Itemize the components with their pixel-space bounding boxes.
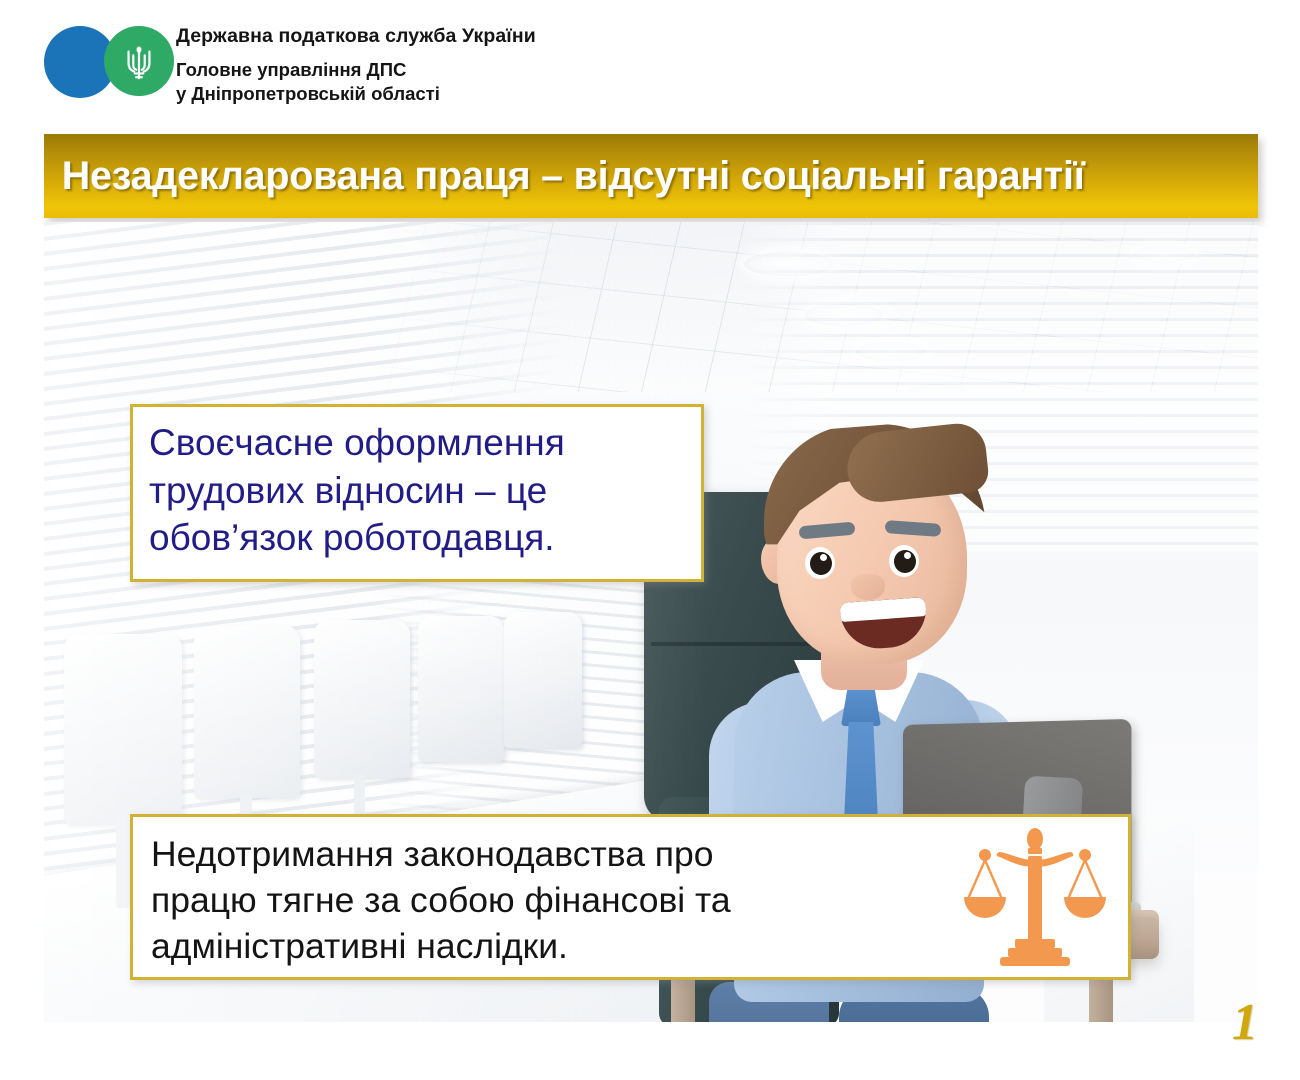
chair-leg [116, 818, 130, 908]
person-eye-left [805, 547, 835, 579]
office-chair-seam [651, 642, 827, 646]
title-banner: Незадекларована праця – відсутні соціаль… [44, 134, 1258, 218]
agency-name-primary: Державна податкова служба України [176, 25, 536, 48]
conference-chair [418, 616, 504, 762]
callout-bottom-line2: працю тягне за собою фінансові та [151, 877, 960, 923]
callout-bottom-line1: Недотримання законодавства про [151, 831, 960, 877]
agency-name-department: Головне управління ДПС [176, 58, 536, 82]
agency-name-block: Державна податкова служба України Головн… [176, 22, 536, 105]
conference-chair [504, 612, 582, 748]
justice-scales-icon [960, 827, 1110, 967]
callout-box-top: Своєчасне оформлення трудових відносин –… [130, 404, 704, 582]
page-number: 1 [1232, 993, 1258, 1052]
callout-top-line3: обов’язок роботодавця. [149, 514, 687, 562]
ukraine-trident-icon [122, 44, 156, 82]
callout-top-line1: Своєчасне оформлення [149, 419, 687, 467]
person-eye-right [889, 545, 919, 577]
slide-root: Державна податкова служба України Головн… [0, 0, 1300, 1080]
agency-logo [44, 22, 172, 104]
callout-bottom-line3: адміністративні наслідки. [151, 923, 960, 969]
callout-box-bottom: Недотримання законодавства про працю тяг… [130, 814, 1131, 980]
callout-top-text: Своєчасне оформлення трудових відносин –… [133, 407, 701, 562]
agency-name-region: у Дніпропетровській області [176, 82, 536, 106]
conference-chair [194, 626, 300, 798]
conference-chair [314, 620, 410, 778]
callout-bottom-text: Недотримання законодавства про працю тяг… [133, 825, 960, 969]
person-nose [851, 574, 885, 600]
header: Державна податкова служба України Головн… [44, 22, 536, 105]
callout-top-line2: трудових відносин – це [149, 467, 687, 515]
conference-chair [64, 634, 182, 824]
slide-title: Незадекларована праця – відсутні соціаль… [44, 154, 1085, 199]
eye-glint [820, 554, 827, 561]
eye-glint [904, 552, 911, 559]
